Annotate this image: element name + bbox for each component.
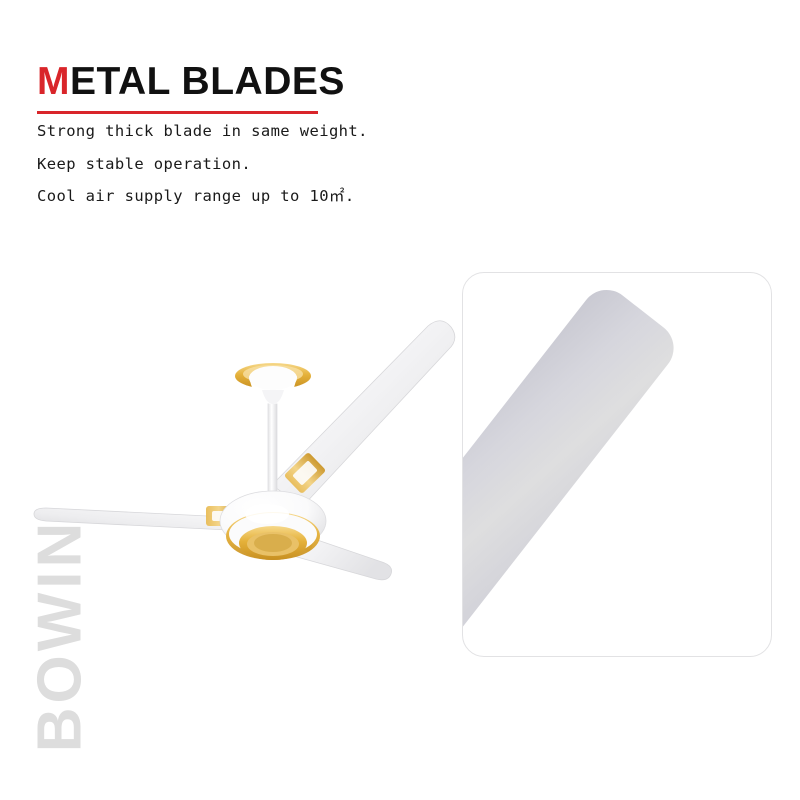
heading-block: METAL BLADES [37, 62, 457, 114]
fan-motor-hub [220, 491, 326, 560]
feature-description-list: Strong thick blade in same weight. Keep … [37, 124, 497, 205]
title-accent-letter: M [37, 60, 70, 103]
feature-line: Cool air supply range up to 10㎡. [37, 189, 497, 205]
ceiling-fan-illustration [10, 300, 460, 630]
feature-line: Strong thick blade in same weight. [37, 124, 497, 140]
feature-line: Keep stable operation. [37, 157, 497, 173]
blade-closeup-panel [462, 272, 772, 657]
fan-downrod [268, 395, 277, 505]
blade-closeup-image [462, 279, 684, 642]
title-remainder: ETAL BLADES [70, 60, 345, 103]
title-underline-rule [37, 111, 318, 114]
fan-blade-left [34, 506, 248, 531]
product-feature-page: METAL BLADES Strong thick blade in same … [0, 0, 800, 800]
page-title: METAL BLADES [37, 62, 457, 103]
fan-blade-upper-right [272, 321, 455, 507]
fan-ceiling-canopy [235, 363, 311, 404]
